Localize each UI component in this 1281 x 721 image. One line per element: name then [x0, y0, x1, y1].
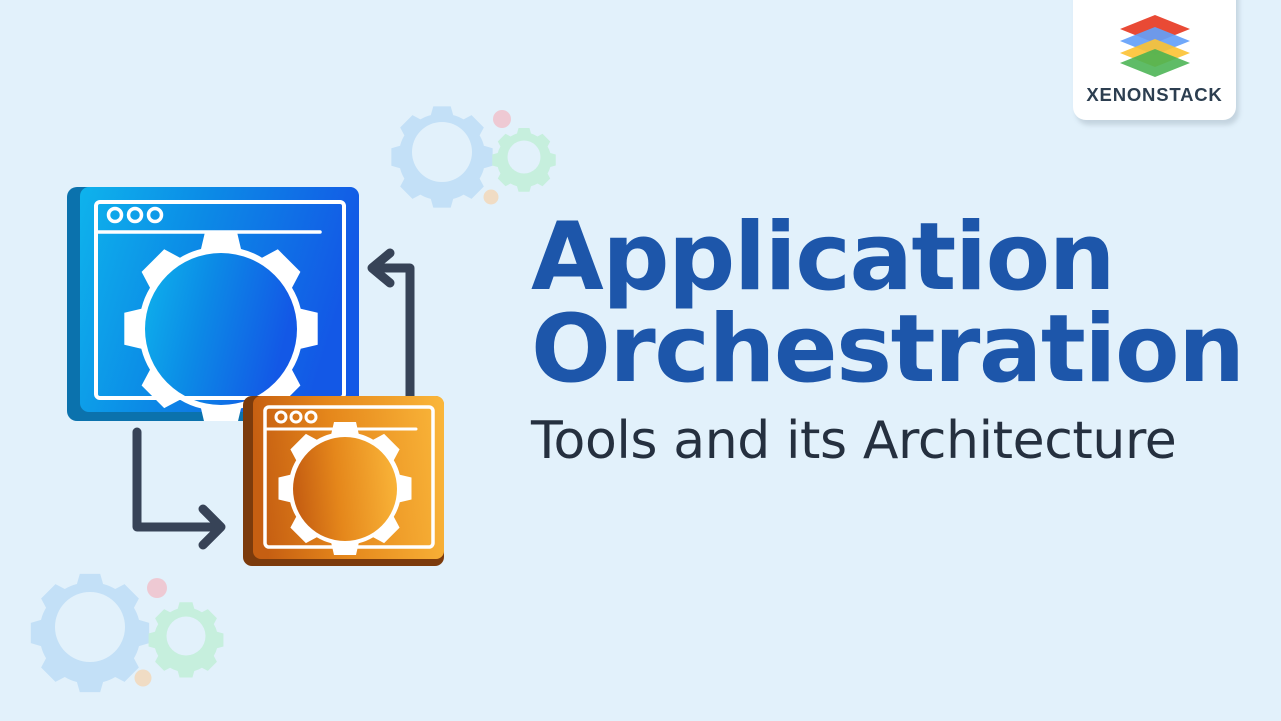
tan-dot-icon-2 — [135, 670, 152, 687]
stacked-layers-icon — [1116, 13, 1194, 79]
gear-icon-orange — [279, 422, 412, 555]
page-subtitle: Tools and its Architecture — [531, 414, 1261, 469]
orange-application-window — [243, 396, 444, 566]
page-title: Application Orchestration — [531, 212, 1261, 396]
banner-root: Application Orchestration Tools and its … — [0, 0, 1281, 721]
connector-arrow-right — [137, 432, 221, 545]
blue-application-window — [67, 187, 359, 425]
small-gear-icon-2 — [149, 602, 224, 677]
orchestration-illustration — [0, 0, 520, 600]
headline-block: Application Orchestration Tools and its … — [531, 212, 1261, 469]
brand-wordmark: XENONSTACK — [1086, 84, 1222, 106]
brand-logo-card[interactable]: XENONSTACK — [1073, 0, 1236, 120]
